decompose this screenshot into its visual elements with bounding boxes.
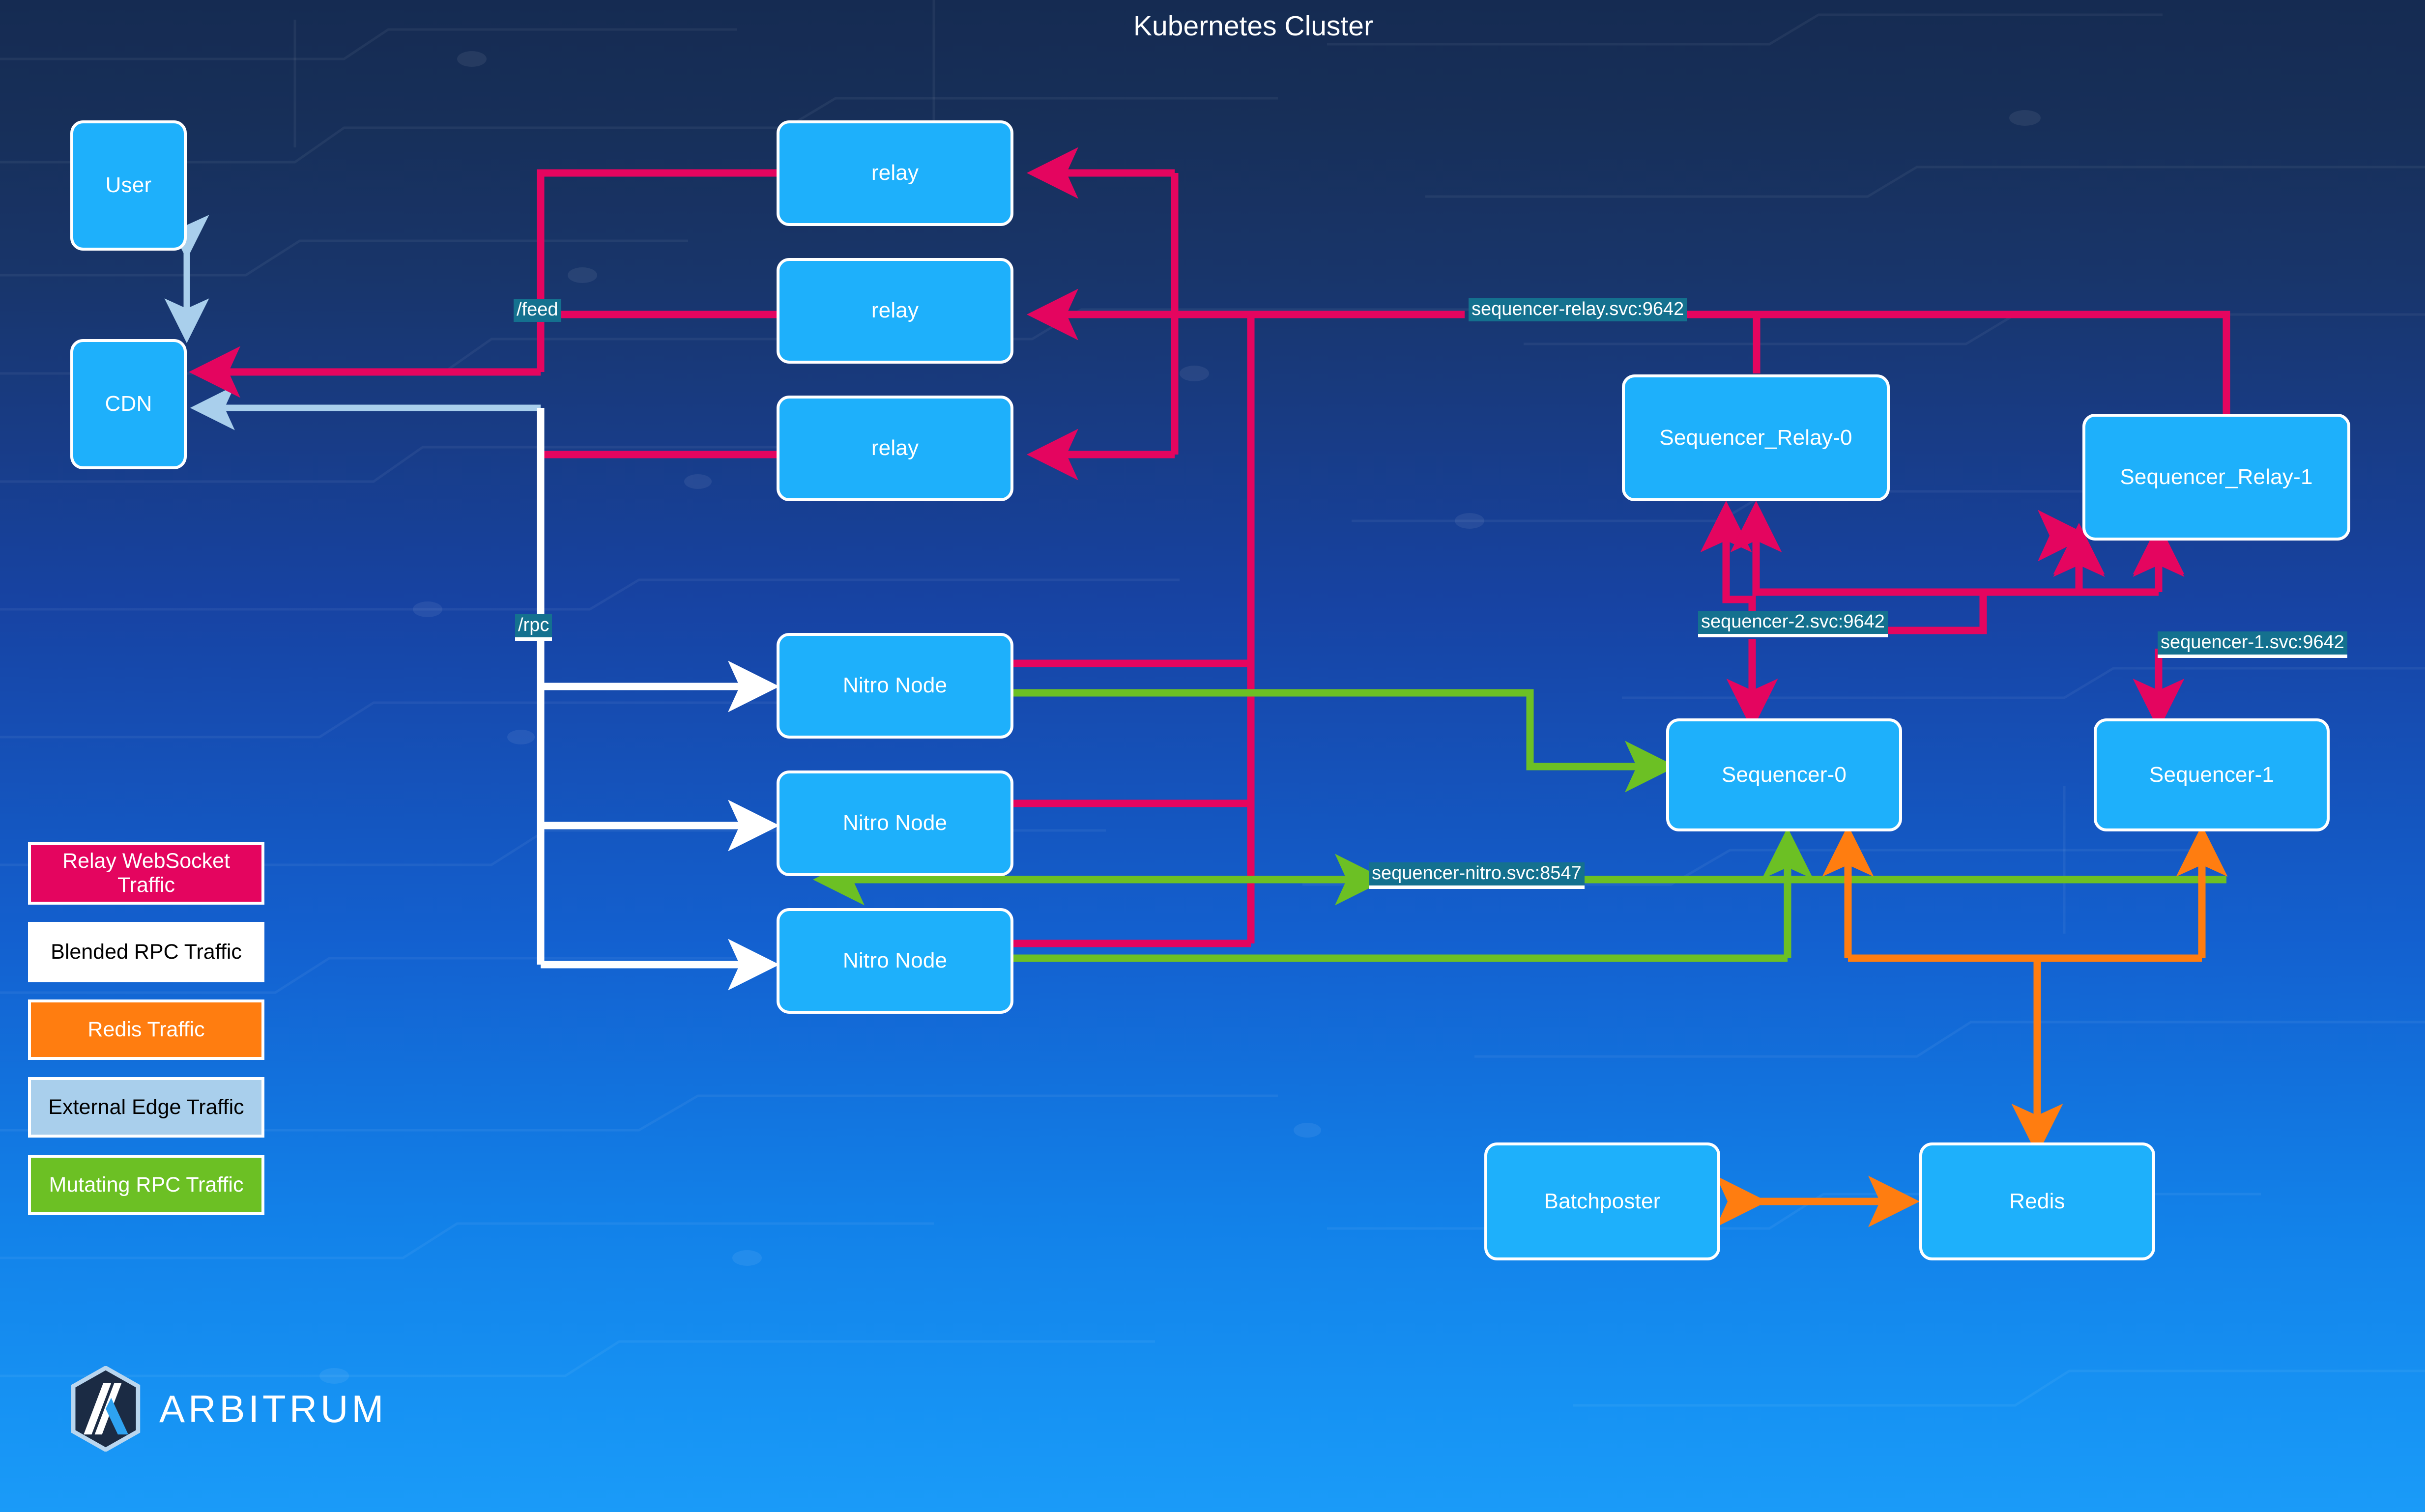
legend-item-relay-websocket[interactable]: Relay WebSocket Traffic: [28, 842, 264, 905]
node-batchposter[interactable]: Batchposter: [1484, 1142, 1720, 1260]
edge-label-rpc: /rpc: [515, 614, 552, 641]
node-relay-1[interactable]: relay: [777, 258, 1013, 364]
node-label: Sequencer-0: [1722, 763, 1847, 788]
node-label: Sequencer_Relay-0: [1659, 426, 1852, 451]
node-nitro-2[interactable]: Nitro Node: [777, 908, 1013, 1014]
wire-rpc-trunk: [541, 408, 769, 965]
node-sequencer-0[interactable]: Sequencer-0: [1666, 718, 1902, 831]
edge-label-sequencer-1-svc: sequencer-1.svc:9642: [2158, 631, 2347, 658]
node-label: User: [106, 173, 152, 198]
node-label: relay: [871, 298, 919, 323]
edge-label-sequencer-nitro-svc: sequencer-nitro.svc:8547: [1369, 862, 1585, 889]
legend-item-label: External Edge Traffic: [48, 1095, 244, 1119]
page-title: Kubernetes Cluster: [295, 10, 2212, 42]
legend-item-blended-rpc[interactable]: Blended RPC Traffic: [28, 922, 264, 982]
node-label: relay: [871, 161, 919, 186]
node-label: Batchposter: [1544, 1189, 1660, 1214]
node-redis[interactable]: Redis: [1919, 1142, 2155, 1260]
node-cdn[interactable]: CDN: [70, 339, 187, 469]
brand-logo: ARBITRUM: [69, 1366, 387, 1452]
node-relay-0[interactable]: relay: [777, 120, 1013, 226]
wire-feed-trunk: [541, 173, 777, 455]
node-relay-2[interactable]: relay: [777, 396, 1013, 501]
node-sequencer-relay-0[interactable]: Sequencer_Relay-0: [1622, 374, 1890, 501]
node-label: Redis: [2009, 1189, 2065, 1214]
node-label: Nitro Node: [843, 673, 947, 698]
node-label: relay: [871, 436, 919, 461]
wire-seqrelay-right-trunk: [1175, 173, 1465, 455]
wire-redis-to-seq: [1848, 835, 2202, 958]
legend: Relay WebSocket Traffic Blended RPC Traf…: [28, 842, 264, 1232]
legend-item-label: Relay WebSocket Traffic: [34, 849, 259, 898]
node-label: Nitro Node: [843, 811, 947, 836]
diagram-canvas: Kubernetes Cluster User CDN relay relay …: [0, 0, 2425, 1512]
node-sequencer-1[interactable]: Sequencer-1: [2094, 718, 2330, 831]
node-label: Nitro Node: [843, 948, 947, 973]
node-label: CDN: [105, 392, 152, 417]
legend-item-label: Blended RPC Traffic: [51, 940, 242, 964]
arbitrum-logo-icon: [69, 1366, 143, 1452]
brand-name: ARBITRUM: [159, 1387, 387, 1431]
wire-seq-down-arrows: [1752, 639, 2159, 720]
connection-wires: [0, 0, 2425, 1512]
node-nitro-1[interactable]: Nitro Node: [777, 770, 1013, 876]
edge-label-sequencer-relay-svc: sequencer-relay.svc:9642: [1469, 298, 1687, 321]
legend-item-redis[interactable]: Redis Traffic: [28, 999, 264, 1060]
edge-label-sequencer-2-svc: sequencer-2.svc:9642: [1698, 611, 1888, 637]
wire-seq-relay1-uplinks: [1983, 536, 2159, 592]
legend-item-label: Redis Traffic: [87, 1018, 204, 1042]
legend-item-mutating-rpc[interactable]: Mutating RPC Traffic: [28, 1155, 264, 1215]
node-sequencer-relay-1[interactable]: Sequencer_Relay-1: [2082, 414, 2350, 541]
node-nitro-0[interactable]: Nitro Node: [777, 633, 1013, 739]
edge-label-feed: /feed: [514, 299, 561, 322]
legend-item-external-edge[interactable]: External Edge Traffic: [28, 1077, 264, 1138]
node-user[interactable]: User: [70, 120, 187, 251]
wire-seq-relay1-uplink-arrows: [2079, 533, 2159, 590]
legend-item-label: Mutating RPC Traffic: [49, 1173, 244, 1197]
wire-sequencer-2-svc: [1726, 511, 1752, 624]
node-label: Sequencer_Relay-1: [2120, 465, 2312, 490]
node-label: Sequencer-1: [2149, 763, 2274, 788]
